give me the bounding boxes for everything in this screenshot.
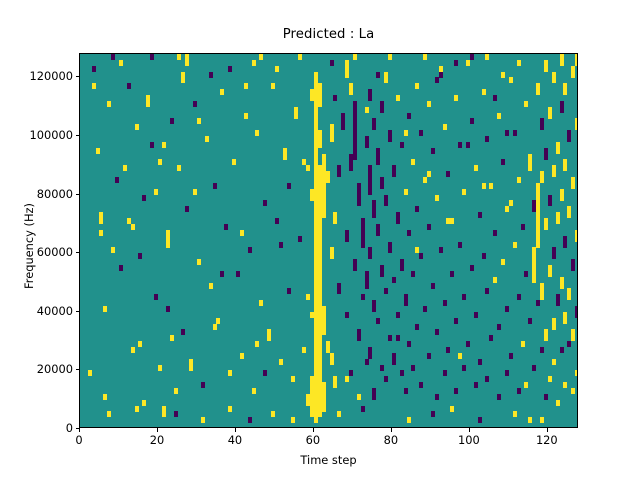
heatmap-cell <box>392 171 396 177</box>
heatmap-cell <box>544 224 548 230</box>
heatmap-cell <box>446 171 450 177</box>
heatmap-cell <box>540 177 544 183</box>
heatmap-cell <box>103 394 107 400</box>
heatmap-cell <box>396 95 400 101</box>
heatmap-cell <box>181 77 185 83</box>
heatmap-cell <box>423 306 427 312</box>
heatmap-cell <box>135 406 139 412</box>
heatmap-cell <box>575 60 578 66</box>
heatmap-cell <box>524 271 528 277</box>
heatmap-cell <box>419 130 423 136</box>
heatmap-cell <box>337 411 341 417</box>
heatmap-cell <box>540 294 544 300</box>
heatmap-cell <box>575 236 578 242</box>
heatmap-cell <box>482 253 486 259</box>
heatmap-cell <box>532 365 536 371</box>
heatmap-cell <box>556 218 560 224</box>
heatmap-cell <box>388 247 392 253</box>
heatmap-cell <box>509 353 513 359</box>
heatmap-cell <box>521 341 525 347</box>
heatmap-cell <box>485 376 489 382</box>
heatmap-cell <box>372 306 376 312</box>
x-tick-label: 60 <box>306 433 321 447</box>
heatmap-cell <box>283 154 287 160</box>
heatmap-cell <box>228 66 232 72</box>
heatmap-cell <box>330 359 334 365</box>
heatmap-cell <box>275 218 279 224</box>
heatmap-cell <box>345 376 349 382</box>
heatmap-cell <box>162 411 166 417</box>
heatmap-cell <box>298 236 302 242</box>
heatmap-cell <box>392 277 396 283</box>
x-tick-mark <box>79 428 80 432</box>
heatmap-cell <box>443 124 447 130</box>
heatmap-cell <box>345 236 349 242</box>
heatmap-cell <box>482 183 486 189</box>
heatmap-cell <box>248 247 252 253</box>
heatmap-cell <box>536 300 540 306</box>
heatmap-cell <box>205 136 209 142</box>
heatmap-cell <box>365 359 369 365</box>
heatmap-cell <box>560 283 564 289</box>
heatmap-cell <box>419 382 423 388</box>
heatmap-cell <box>96 148 100 154</box>
heatmap-cell <box>287 288 291 294</box>
x-tick-label: 40 <box>228 433 243 447</box>
heatmap-cell <box>517 60 521 66</box>
heatmap-cell <box>306 294 310 300</box>
heatmap-cell <box>213 183 217 189</box>
heatmap-cell <box>404 189 408 195</box>
x-axis-label: Time step <box>79 453 578 467</box>
heatmap-cell <box>166 242 170 248</box>
heatmap-cell <box>197 118 201 124</box>
heatmap-cell <box>228 370 232 376</box>
heatmap-cell <box>197 259 201 265</box>
heatmap-cell <box>485 54 489 60</box>
heatmap-cell <box>380 365 384 371</box>
heatmap-cell <box>524 101 528 107</box>
heatmap-cell <box>427 101 431 107</box>
heatmap-cell <box>302 347 306 353</box>
heatmap-cell <box>404 300 408 306</box>
heatmap-cell <box>497 324 501 330</box>
heatmap-cell <box>540 417 544 423</box>
heatmap-cell <box>552 77 556 83</box>
heatmap-cell <box>322 406 326 412</box>
heatmap-cell <box>255 341 259 347</box>
heatmap-cell <box>368 189 372 195</box>
heatmap-cell <box>575 370 578 376</box>
heatmap-cell <box>396 218 400 224</box>
heatmap-cell <box>259 54 263 60</box>
heatmap-cell <box>450 218 454 224</box>
heatmap-cell <box>497 394 501 400</box>
x-tick-mark <box>235 428 236 432</box>
heatmap-cell <box>236 271 240 277</box>
heatmap-cell <box>345 312 349 318</box>
heatmap-cell <box>493 277 497 283</box>
x-tick-label: 0 <box>75 433 82 447</box>
heatmap-cell <box>532 277 536 283</box>
heatmap-cell <box>404 130 408 136</box>
heatmap-cell <box>431 411 435 417</box>
heatmap-cell <box>345 72 349 78</box>
x-tick-label: 100 <box>458 433 480 447</box>
heatmap-cell <box>166 306 170 312</box>
heatmap-cell <box>407 341 411 347</box>
heatmap-cell <box>107 101 111 107</box>
heatmap-cell <box>92 83 96 89</box>
heatmap-cell <box>142 400 146 406</box>
heatmap-cell <box>135 124 139 130</box>
heatmap-cell <box>528 318 532 324</box>
heatmap-cell <box>107 411 111 417</box>
heatmap-cell <box>513 130 517 136</box>
heatmap-cell <box>528 165 532 171</box>
heatmap-cell <box>310 95 314 101</box>
heatmap-cell <box>536 89 540 95</box>
heatmap-cell <box>505 206 509 212</box>
heatmap-cell <box>540 347 544 353</box>
heatmap-cell <box>552 359 556 365</box>
heatmap-cell <box>318 142 322 148</box>
heatmap-cell <box>294 113 298 119</box>
heatmap-cell <box>513 411 517 417</box>
heatmap-cell <box>509 77 513 83</box>
heatmap-cell <box>571 72 575 78</box>
heatmap-cell <box>158 365 162 371</box>
heatmap-cell <box>333 382 337 388</box>
heatmap-cell <box>368 353 372 359</box>
heatmap-cell <box>361 406 365 412</box>
heatmap-cell <box>450 406 454 412</box>
heatmap-cell <box>150 54 154 60</box>
heatmap-cell <box>306 165 310 171</box>
heatmap-cell <box>220 271 224 277</box>
heatmap-cell <box>170 118 174 124</box>
heatmap-cell <box>513 242 517 248</box>
heatmap-cell <box>380 183 384 189</box>
heatmap-cell <box>458 142 462 148</box>
heatmap-cell <box>528 417 532 423</box>
heatmap-cell <box>517 294 521 300</box>
heatmap-cell <box>454 95 458 101</box>
heatmap-cell <box>544 154 548 160</box>
heatmap-cell <box>384 77 388 83</box>
heatmap-cell <box>368 95 372 101</box>
heatmap-cell <box>291 376 295 382</box>
heatmap-cell <box>349 370 353 376</box>
heatmap-cell <box>407 230 411 236</box>
heatmap-cell <box>209 72 213 78</box>
heatmap-cell <box>349 165 353 171</box>
heatmap-cell <box>330 253 334 259</box>
heatmap-cell <box>88 370 92 376</box>
heatmap-cell <box>228 406 232 412</box>
heatmap-cell <box>177 165 181 171</box>
heatmap-cell <box>154 294 158 300</box>
heatmap-cell <box>560 347 564 353</box>
heatmap-cell <box>446 218 450 224</box>
heatmap-cell <box>563 242 567 248</box>
heatmap-cell <box>407 113 411 119</box>
heatmap-cell <box>248 417 252 423</box>
heatmap-cell <box>544 66 548 72</box>
heatmap-cell <box>556 300 560 306</box>
heatmap-cell <box>571 265 575 271</box>
heatmap-cell <box>567 294 571 300</box>
heatmap-cell <box>563 382 567 388</box>
heatmap-cell <box>466 341 470 347</box>
heatmap-cell <box>548 113 552 119</box>
heatmap-cell <box>544 335 548 341</box>
heatmap-cells <box>80 54 577 427</box>
heatmap-cell <box>302 159 306 165</box>
heatmap-cell <box>415 324 419 330</box>
x-tick-labels: 020406080100120 <box>79 433 578 451</box>
heatmap-cell <box>119 265 123 271</box>
heatmap-cell <box>552 324 556 330</box>
heatmap-cell <box>411 365 415 371</box>
heatmap-cell <box>536 242 540 248</box>
heatmap-cell <box>470 118 474 124</box>
heatmap-cell <box>482 89 486 95</box>
heatmap-cell <box>119 60 123 66</box>
heatmap-cell <box>435 195 439 201</box>
heatmap-cell <box>556 148 560 154</box>
heatmap-cell <box>466 142 470 148</box>
heatmap-cell <box>474 312 478 318</box>
heatmap-cell <box>384 200 388 206</box>
heatmap-cell <box>252 60 256 66</box>
heatmap-cell <box>462 294 466 300</box>
heatmap-cell <box>439 66 443 72</box>
heatmap-cell <box>474 165 478 171</box>
heatmap-cell <box>485 136 489 142</box>
heatmap-cell <box>92 66 96 72</box>
heatmap-cell <box>435 394 439 400</box>
heatmap-cell <box>174 388 178 394</box>
heatmap-cell <box>209 283 213 289</box>
heatmap-cell <box>201 382 205 388</box>
heatmap-cell <box>185 206 189 212</box>
heatmap-cell <box>462 365 466 371</box>
heatmap-cell <box>279 242 283 248</box>
heatmap-cell <box>509 200 513 206</box>
heatmap-cell <box>380 107 384 113</box>
heatmap-cell <box>368 253 372 259</box>
heatmap-cell <box>560 195 564 201</box>
heatmap-cell <box>357 200 361 206</box>
heatmap-cell <box>365 107 369 113</box>
heatmap-cell <box>517 177 521 183</box>
heatmap-cell <box>326 177 330 183</box>
heatmap-cell <box>400 370 404 376</box>
heatmap-cell <box>552 171 556 177</box>
x-tick-label: 80 <box>384 433 399 447</box>
heatmap-cell <box>263 200 267 206</box>
heatmap-cell <box>489 335 493 341</box>
heatmap-cell <box>571 183 575 189</box>
heatmap-cell <box>563 318 567 324</box>
heatmap-cell <box>427 171 431 177</box>
heatmap-cell <box>552 253 556 259</box>
heatmap-cell <box>99 218 103 224</box>
heatmap-cell <box>443 370 447 376</box>
heatmap-cell <box>556 400 560 406</box>
heatmap-cell <box>493 230 497 236</box>
heatmap-cell <box>115 177 119 183</box>
heatmap-cell <box>380 271 384 277</box>
heatmap-cell <box>111 247 115 253</box>
heatmap-cell <box>521 224 525 230</box>
heatmap-cell <box>255 130 259 136</box>
chart-title: Predicted : La <box>79 27 578 42</box>
heatmap-cell <box>103 306 107 312</box>
heatmap-cell <box>427 224 431 230</box>
heatmap-cell <box>216 318 220 324</box>
x-tick-mark <box>469 428 470 432</box>
heatmap-cell <box>423 177 427 183</box>
heatmap-cell <box>439 247 443 253</box>
heatmap-cell <box>415 247 419 253</box>
x-tick-label: 120 <box>536 433 558 447</box>
heatmap-cell <box>318 101 322 107</box>
heatmap-cell <box>540 124 544 130</box>
heatmap-cell <box>337 171 341 177</box>
heatmap-cell <box>505 370 509 376</box>
heatmap-cell <box>244 113 248 119</box>
heatmap-cell <box>170 335 174 341</box>
heatmap-cell <box>474 382 478 388</box>
heatmap-cell <box>376 72 380 78</box>
heatmap-cell <box>252 388 256 394</box>
heatmap-cell <box>333 95 337 101</box>
x-tick-mark <box>391 428 392 432</box>
heatmap-cell <box>127 83 131 89</box>
heatmap-cell <box>575 124 578 130</box>
heatmap-axes <box>79 53 578 428</box>
heatmap-cell <box>353 154 357 160</box>
heatmap-cell <box>337 288 341 294</box>
heatmap-cell <box>224 224 228 230</box>
heatmap-cell <box>193 189 197 195</box>
heatmap-cell <box>501 72 505 78</box>
heatmap-cell <box>146 101 150 107</box>
heatmap-cell <box>271 83 275 89</box>
heatmap-cell <box>131 224 135 230</box>
heatmap-cell <box>232 159 236 165</box>
heatmap-cell <box>291 417 295 423</box>
heatmap-cell <box>567 136 571 142</box>
matplotlib-figure: Predicted : La Frequency (Hz) 0200004000… <box>0 0 640 480</box>
heatmap-cell <box>411 159 415 165</box>
heatmap-cell <box>423 54 427 60</box>
heatmap-cell <box>392 359 396 365</box>
heatmap-cell <box>501 159 505 165</box>
heatmap-cell <box>470 54 474 60</box>
heatmap-cell <box>450 271 454 277</box>
heatmap-cell <box>501 259 505 265</box>
heatmap-cell <box>548 271 552 277</box>
heatmap-cell <box>454 388 458 394</box>
heatmap-cell <box>240 230 244 236</box>
heatmap-cell <box>213 324 217 330</box>
heatmap-cell <box>470 265 474 271</box>
heatmap-cell <box>384 288 388 294</box>
heatmap-cell <box>318 411 322 417</box>
heatmap-cell <box>138 341 142 347</box>
heatmap-cell <box>458 242 462 248</box>
heatmap-cell <box>357 394 361 400</box>
heatmap-cell <box>372 394 376 400</box>
heatmap-cell <box>478 417 482 423</box>
heatmap-cell <box>435 77 439 83</box>
heatmap-cell <box>462 189 466 195</box>
heatmap-cell <box>505 306 509 312</box>
heatmap-cell <box>560 60 564 66</box>
heatmap-cell <box>138 253 142 259</box>
heatmap-cell <box>314 417 318 423</box>
heatmap-cell <box>259 300 263 306</box>
heatmap-cell <box>497 113 501 119</box>
heatmap-cell <box>131 347 135 353</box>
heatmap-cell <box>279 359 283 365</box>
heatmap-cell <box>446 347 450 353</box>
heatmap-cell <box>287 183 291 189</box>
heatmap-cell <box>376 230 380 236</box>
heatmap-cell <box>123 165 127 171</box>
heatmap-cell <box>400 142 404 148</box>
heatmap-cell <box>571 388 575 394</box>
heatmap-cell <box>174 411 178 417</box>
heatmap-cell <box>240 353 244 359</box>
heatmap-cell <box>162 142 166 148</box>
x-tick-mark <box>313 428 314 432</box>
heatmap-cell <box>298 54 302 60</box>
heatmap-cell <box>524 382 528 388</box>
heatmap-cell <box>493 95 497 101</box>
heatmap-cell <box>478 359 482 365</box>
heatmap-cell <box>201 417 205 423</box>
heatmap-cell <box>372 212 376 218</box>
heatmap-cell <box>330 136 334 142</box>
heatmap-cell <box>267 335 271 341</box>
heatmap-cell <box>142 195 146 201</box>
heatmap-cell <box>353 265 357 271</box>
heatmap-cell <box>567 341 571 347</box>
heatmap-cell <box>571 335 575 341</box>
heatmap-cell <box>322 212 326 218</box>
heatmap-cell <box>388 335 392 341</box>
heatmap-cell <box>548 200 552 206</box>
heatmap-cell <box>544 394 548 400</box>
heatmap-cell <box>310 195 314 201</box>
heatmap-cell <box>466 60 470 66</box>
heatmap-cell <box>489 183 493 189</box>
heatmap-cell <box>189 365 193 371</box>
heatmap-cell <box>396 312 400 318</box>
heatmap-cell <box>365 283 369 289</box>
heatmap-cell <box>333 218 337 224</box>
heatmap-cell <box>396 335 400 341</box>
heatmap-cell <box>454 318 458 324</box>
x-tick-mark <box>157 428 158 432</box>
heatmap-cell <box>384 376 388 382</box>
heatmap-cell <box>275 66 279 72</box>
heatmap-cell <box>548 376 552 382</box>
